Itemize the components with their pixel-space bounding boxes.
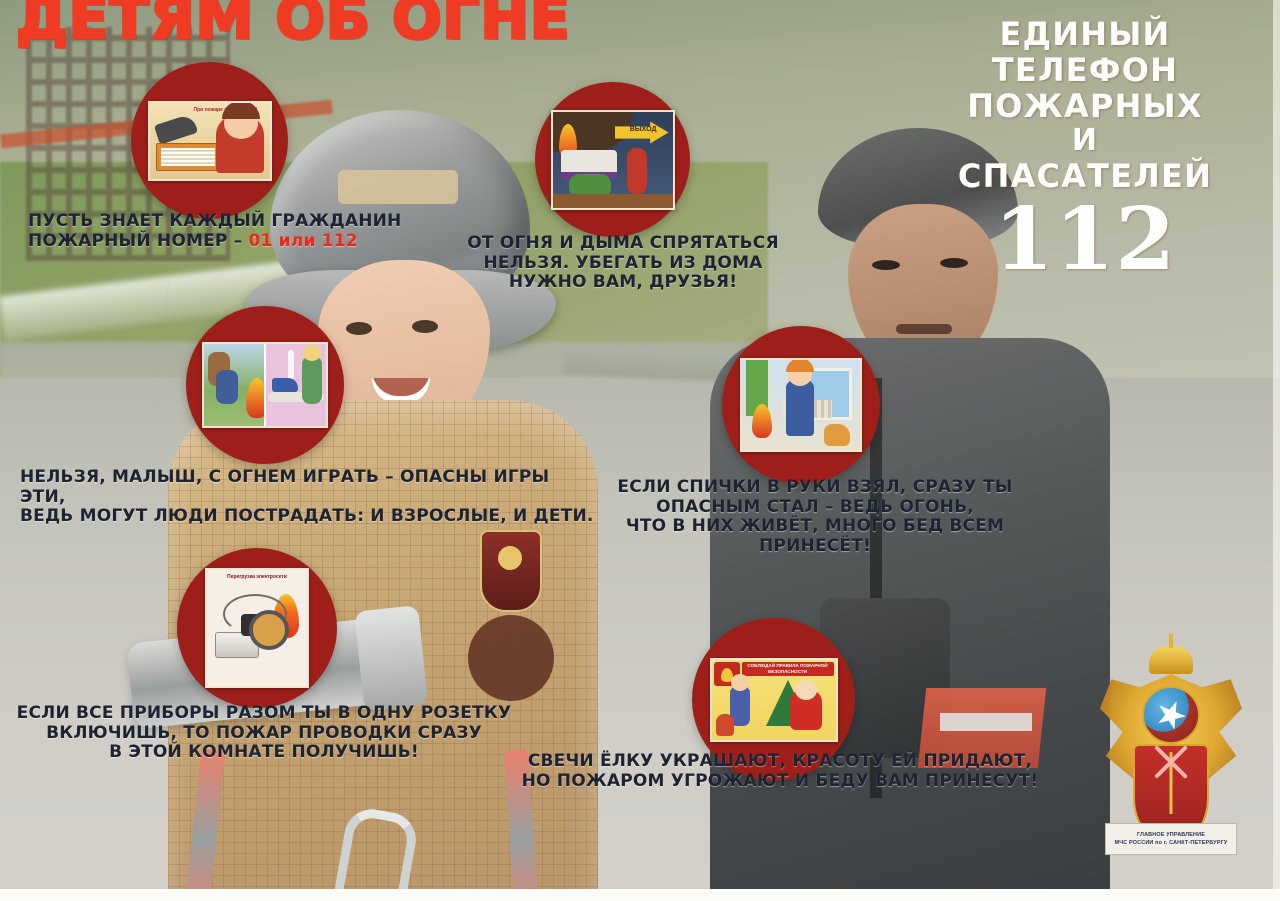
picture-boy-calling: При пожаре звонить – 01! [148,101,272,181]
child-shoulder-emblem [468,615,554,701]
emercom-star-icon [1142,686,1200,744]
rescue-character [627,148,647,194]
caption-line-2: НЕЛЬЗЯ. УБЕГАТЬ ИЗ ДОМА [458,254,788,274]
girl-figure [302,356,322,404]
illustration-exit: ВЫХОД [535,82,690,237]
boy-figure [216,115,264,173]
gnome-figure [716,714,734,736]
picture-new-year-tree: СОБЛЮДАЙ ПРАВИЛА ПОЖАРНОЙ БЕЗОПАСНОСТИ [710,658,838,742]
scan-right-edge [1273,0,1280,901]
floor-strip [553,194,673,208]
emergency-number: 112 [920,199,1250,281]
phone-label-line2: ПОЖАРНЫХ [920,88,1250,124]
child-eye-right [412,320,438,333]
caption-line-2: НО ПОЖАРОМ УГРОЖАЮТ И БЕДУ ВАМ ПРИНЕСУТ! [520,772,1040,792]
caption-matches: ЕСЛИ СПИЧКИ В РУКИ ВЗЯЛ, СРАЗУ ТЫ ОПАСНЫ… [570,478,1060,557]
electric-iron [272,378,298,392]
telephone-handset-icon [153,113,197,144]
santa-figure [790,690,822,730]
emblem-banner-line2: МЧС РОССИИ по г. САНКТ-ПЕТЕРБУРГУ [1115,840,1228,846]
caption-phone-number: ПУСТЬ ЗНАЕТ КАЖДЫЙ ГРАЖДАНИН ПОЖАРНЫЙ НО… [28,212,468,251]
open-book [156,143,220,171]
caption-line-1: СВЕЧИ ЁЛКУ УКРАШАЮТ, КРАСОТУ ЕЙ ПРИДАЮТ, [520,752,1040,772]
caption-line-3: В ЭТОЙ КОМНАТЕ ПОЛУЧИШЬ! [14,743,514,763]
picture-escape-exit: ВЫХОД [551,110,675,210]
caption-line-2: ВЕДЬ МОГУТ ЛЮДИ ПОСТРАДАТЬ: И ВЗРОСЛЫЕ, … [20,507,600,527]
phone-label-line1: ЕДИНЫЙ ТЕЛЕФОН [920,16,1250,88]
picture-caption: СОБЛЮДАЙ ПРАВИЛА ПОЖАРНОЙ БЕЗОПАСНОСТИ [742,662,834,676]
caption-candles: СВЕЧИ ЁЛКУ УКРАШАЮТ, КРАСОТУ ЕЙ ПРИДАЮТ,… [520,752,1040,791]
caption-line-1: ЕСЛИ СПИЧКИ В РУКИ ВЗЯЛ, СРАЗУ ТЫ [570,478,1060,498]
fire-safety-poster: ДЕТЯМ ОБ ОГНЕ ЕДИНЫЙ ТЕЛЕФОН ПОЖАРНЫХ И … [0,0,1280,901]
bonfire-flame [246,378,264,418]
caption-line-1: ОТ ОГНЯ И ДЫМА СПРЯТАТЬСЯ [458,234,788,254]
illustration-bonfire-iron [186,306,344,464]
boy-crouching [216,370,238,404]
boy-holding-matches [786,380,814,436]
phone-label-line3: И [920,124,1250,158]
picture-electrical-overload: Перегрузка электросети [205,568,309,688]
iron-smoke [288,350,294,380]
caption-line-1: НЕЛЬЗЯ, МАЛЫШ, С ОГНЕМ ИГРАТЬ – ОПАСНЫ И… [20,468,600,507]
emergency-phone-block: ЕДИНЫЙ ТЕЛЕФОН ПОЖАРНЫХ И СПАСАТЕЛЕЙ 112 [920,16,1250,280]
caption-line-2: ОПАСНЫМ СТАЛ – ВЕДЬ ОГОНЬ, [570,498,1060,518]
emercom-emblem: ГЛАВНОЕ УПРАВЛЕНИЕ МЧС РОССИИ по г. САНК… [1096,640,1246,855]
adult-reflective-stripe [940,713,1032,731]
caption-line-2: ВКЛЮЧИШЬ, ТО ПОЖАР ПРОВОДКИ СРАЗУ [14,724,514,744]
child-uniform-patch [480,530,542,612]
picture-bonfire-and-iron [202,342,328,428]
panel-bonfire [204,344,264,426]
emblem-banner-text: ГЛАВНОЕ УПРАВЛЕНИЕ МЧС РОССИИ по г. САНК… [1115,831,1228,847]
panel-hot-iron [264,344,326,426]
exit-sign-label: ВЫХОД [630,126,657,133]
scan-bottom-edge [0,889,1280,901]
adult-mouth [896,324,952,334]
caption-line-1: ПУСТЬ ЗНАЕТ КАЖДЫЙ ГРАЖДАНИН [28,212,468,232]
illustration-matches-curtain [722,326,880,484]
page-title: ДЕТЯМ ОБ ОГНЕ [16,0,571,52]
caption-no-fire-play: НЕЛЬЗЯ, МАЛЫШ, С ОГНЕМ ИГРАТЬ – ОПАСНЫ И… [20,468,600,527]
cable-reel [249,610,289,650]
illustration-overload: Перегрузка электросети [177,548,337,708]
caption-highlight-number: 01 или 112 [249,231,358,251]
illustration-boy-calling: При пожаре звонить – 01! [131,62,288,219]
picture-boy-with-matches [740,358,862,452]
child-eye-left [346,322,372,335]
caption-line-1: ЕСЛИ ВСЕ ПРИБОРЫ РАЗОМ ТЫ В ОДНУ РОЗЕТКУ [14,704,514,724]
caption-line-2: ПОЖАРНЫЙ НОМЕР – 01 или 112 [28,232,468,252]
caption-line-2-text: ПОЖАРНЫЙ НОМЕР – [28,231,249,251]
cat-figure [824,424,850,446]
adult-eye-left [872,260,900,270]
emblem-banner: ГЛАВНОЕ УПРАВЛЕНИЕ МЧС РОССИИ по г. САНК… [1105,823,1237,855]
caption-line-3: ЧТО В НИХ ЖИВЁТ, МНОГО БЕД ВСЕМ ПРИНЕСЁТ… [570,517,1060,556]
crown-icon [1149,646,1193,674]
caption-socket: ЕСЛИ ВСЕ ПРИБОРЫ РАЗОМ ТЫ В ОДНУ РОЗЕТКУ… [14,704,514,763]
picture-caption: Перегрузка электросети [207,574,307,580]
caption-line-3: НУЖНО ВАМ, ДРУЗЬЯ! [458,273,788,293]
caption-escape: ОТ ОГНЯ И ДЫМА СПРЯТАТЬСЯ НЕЛЬЗЯ. УБЕГАТ… [458,234,788,293]
emblem-banner-line1: ГЛАВНОЕ УПРАВЛЕНИЕ [1137,832,1205,838]
curtain-flame [752,404,772,438]
